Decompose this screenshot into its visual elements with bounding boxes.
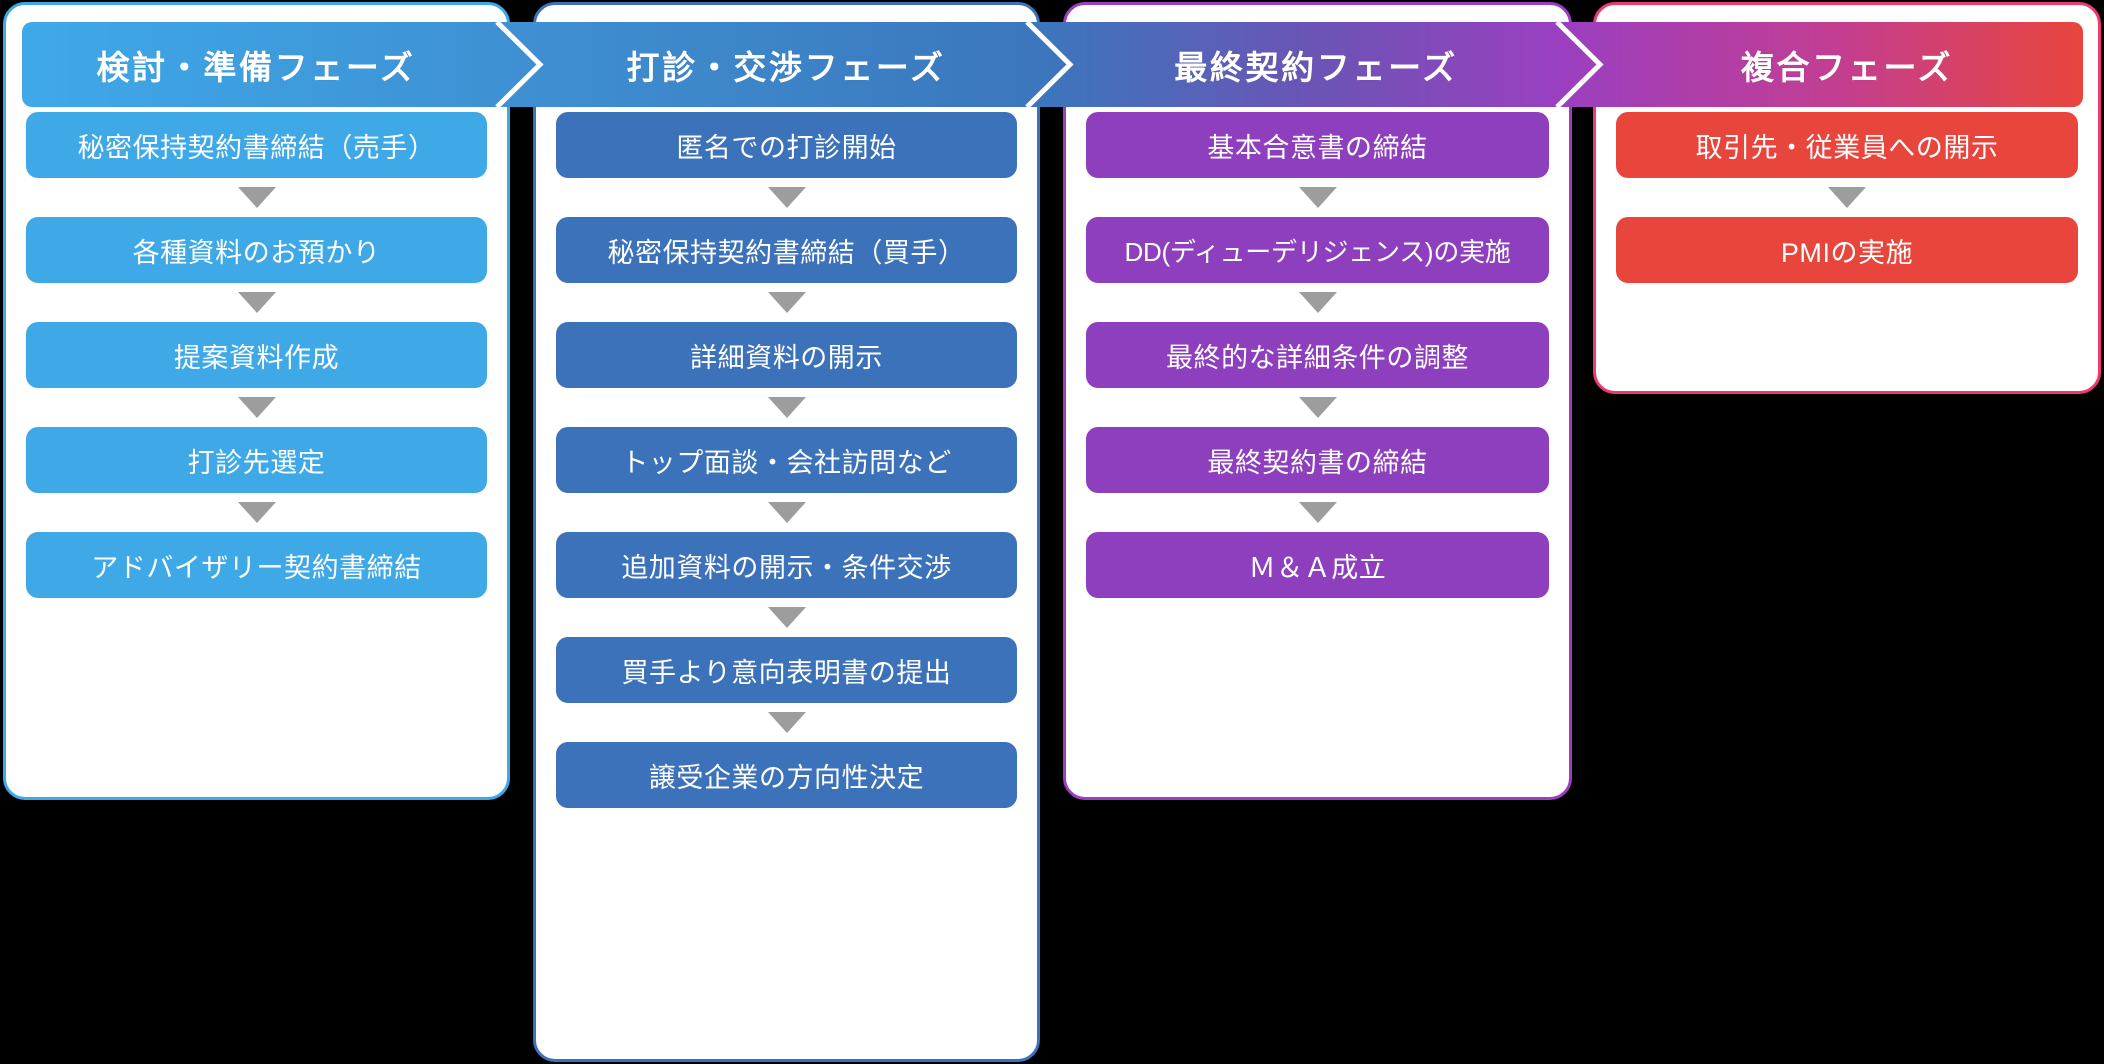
phase-step-box[interactable]: 買手より意向表明書の提出 bbox=[556, 637, 1017, 703]
arrow-down-icon bbox=[1299, 292, 1337, 313]
phase-step-box[interactable]: 秘密保持契約書締結（売手） bbox=[26, 112, 487, 178]
phase-step-box[interactable]: 最終的な詳細条件の調整 bbox=[1086, 322, 1549, 388]
phase-header-4: 複合フェーズ bbox=[1612, 22, 2082, 107]
arrow-down-icon bbox=[1828, 187, 1866, 208]
phase-1-item-list: 秘密保持契約書締結（売手）各種資料のお預かり提案資料作成打診先選定アドバイザリー… bbox=[6, 112, 507, 598]
diagram-canvas: 秘密保持契約書締結（売手）各種資料のお預かり提案資料作成打診先選定アドバイザリー… bbox=[0, 0, 2104, 1064]
phase-step-box[interactable]: 詳細資料の開示 bbox=[556, 322, 1017, 388]
arrow-down-icon bbox=[768, 607, 806, 628]
chevron-right-icon bbox=[493, 22, 553, 107]
phase-step-box[interactable]: アドバイザリー契約書締結 bbox=[26, 532, 487, 598]
phase-step-box[interactable]: 譲受企業の方向性決定 bbox=[556, 742, 1017, 808]
arrow-down-icon bbox=[1299, 187, 1337, 208]
phase-2-item-list: 匿名での打診開始秘密保持契約書締結（買手）詳細資料の開示トップ面談・会社訪問など… bbox=[536, 112, 1037, 808]
arrow-down-icon bbox=[238, 187, 276, 208]
phase-3-item-list: 基本合意書の締結DD(ディューデリジェンス)の実施最終的な詳細条件の調整最終契約… bbox=[1066, 112, 1569, 598]
arrow-down-icon bbox=[238, 397, 276, 418]
phase-column-2: 匿名での打診開始秘密保持契約書締結（買手）詳細資料の開示トップ面談・会社訪問など… bbox=[533, 2, 1040, 1062]
phase-step-box[interactable]: Ｍ＆Ａ成立 bbox=[1086, 532, 1549, 598]
phase-step-box[interactable]: 各種資料のお預かり bbox=[26, 217, 487, 283]
phase-step-box[interactable]: トップ面談・会社訪問など bbox=[556, 427, 1017, 493]
phase-header-3: 最終契約フェーズ bbox=[1082, 22, 1550, 107]
arrow-down-icon bbox=[1299, 397, 1337, 418]
arrow-down-icon bbox=[768, 502, 806, 523]
arrow-down-icon bbox=[768, 712, 806, 733]
phase-header-2: 打診・交渉フェーズ bbox=[552, 22, 1020, 107]
chevron-right-icon bbox=[1553, 22, 1613, 107]
arrow-down-icon bbox=[1299, 502, 1337, 523]
phase-step-box[interactable]: 基本合意書の締結 bbox=[1086, 112, 1549, 178]
phase-header-1: 検討・準備フェーズ bbox=[22, 22, 490, 107]
phase-4-item-list: 取引先・従業員への開示PMIの実施 bbox=[1596, 112, 2098, 283]
phase-step-box[interactable]: 取引先・従業員への開示 bbox=[1616, 112, 2078, 178]
phase-step-box[interactable]: 匿名での打診開始 bbox=[556, 112, 1017, 178]
arrow-down-icon bbox=[768, 187, 806, 208]
phase-column-3: 基本合意書の締結DD(ディューデリジェンス)の実施最終的な詳細条件の調整最終契約… bbox=[1063, 2, 1572, 800]
arrow-down-icon bbox=[238, 292, 276, 313]
phase-column-1: 秘密保持契約書締結（売手）各種資料のお預かり提案資料作成打診先選定アドバイザリー… bbox=[3, 2, 510, 800]
phase-step-box[interactable]: 提案資料作成 bbox=[26, 322, 487, 388]
chevron-right-icon bbox=[1023, 22, 1083, 107]
phase-step-box[interactable]: 秘密保持契約書締結（買手） bbox=[556, 217, 1017, 283]
phase-step-box[interactable]: 最終契約書の締結 bbox=[1086, 427, 1549, 493]
phase-step-box[interactable]: 追加資料の開示・条件交渉 bbox=[556, 532, 1017, 598]
arrow-down-icon bbox=[768, 292, 806, 313]
phase-step-box[interactable]: 打診先選定 bbox=[26, 427, 487, 493]
arrow-down-icon bbox=[238, 502, 276, 523]
phase-step-box[interactable]: PMIの実施 bbox=[1616, 217, 2078, 283]
phase-step-box[interactable]: DD(ディューデリジェンス)の実施 bbox=[1086, 217, 1549, 283]
arrow-down-icon bbox=[768, 397, 806, 418]
